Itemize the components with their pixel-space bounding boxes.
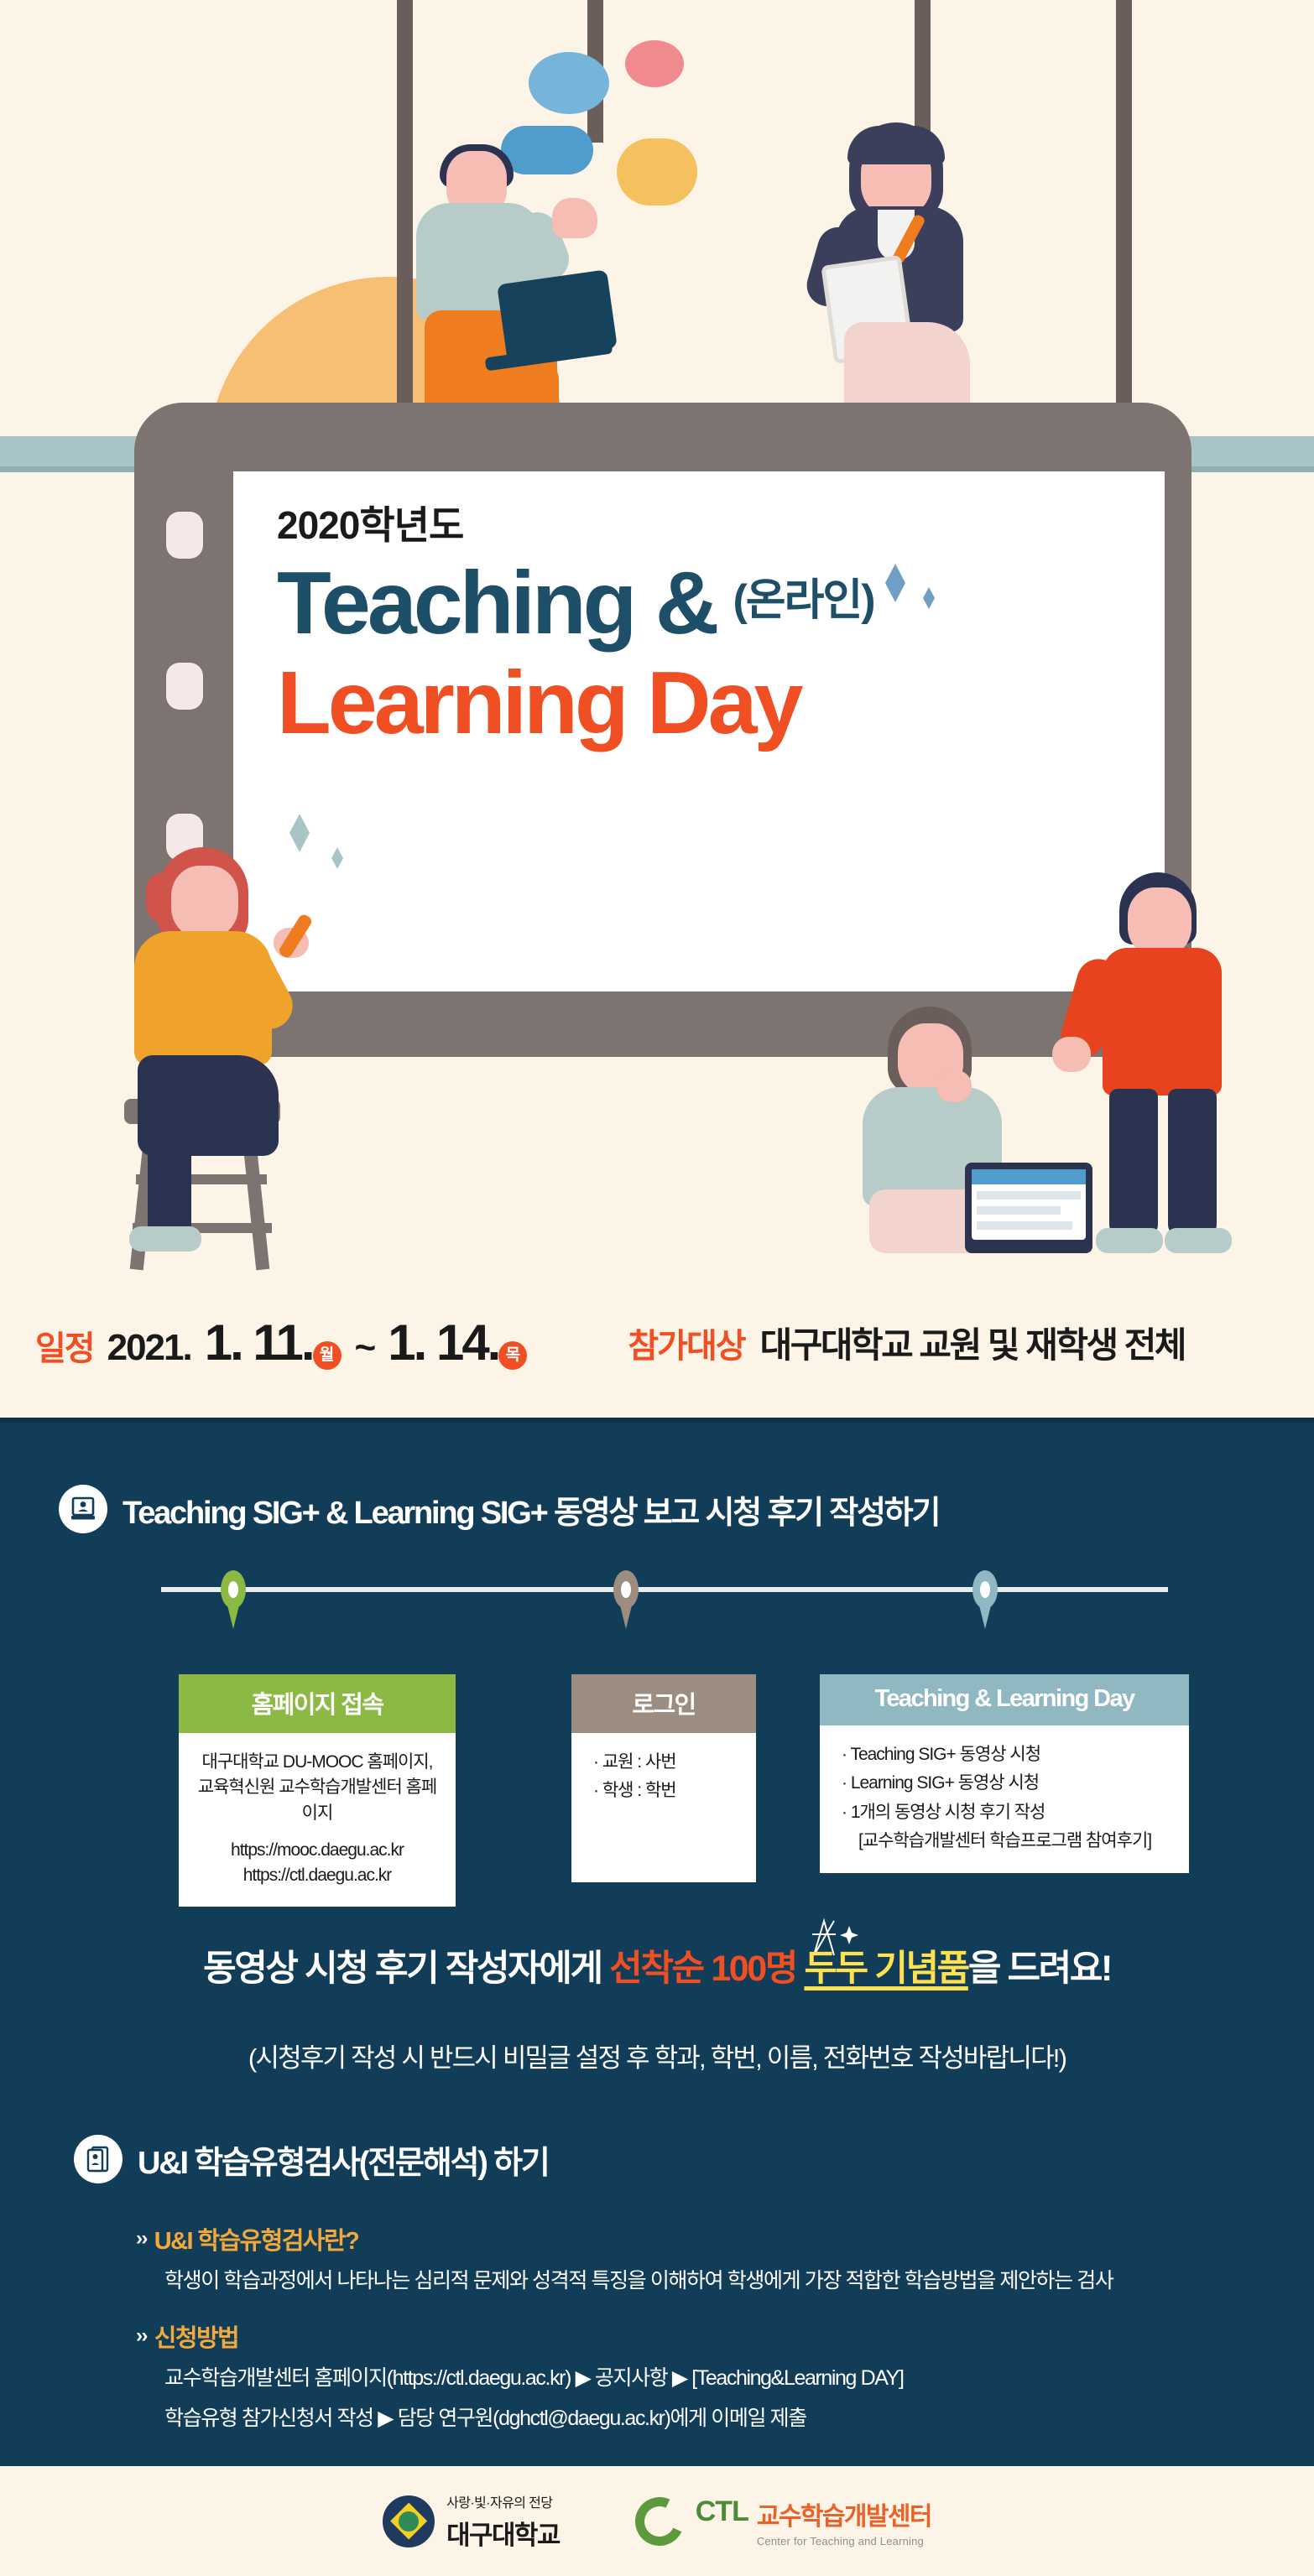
card1-url2[interactable]: https://ctl.daegu.ac.kr	[190, 1863, 444, 1888]
title-online-badge: (온라인)	[733, 576, 873, 625]
card2-bullet2: · 학생 : 학번	[593, 1778, 744, 1803]
promo-highlight-yellow: 두두 기념품	[804, 1949, 967, 1989]
card1-url1[interactable]: https://mooc.daegu.ac.kr	[190, 1838, 444, 1862]
card2-bullet1: · 교원 : 사번	[593, 1750, 744, 1775]
card3-bullet3: · 1개의 동영상 시청 후기 작성	[842, 1800, 1177, 1825]
promo-highlight-red: 선착순 100명	[609, 1949, 796, 1989]
schedule-separator: ~	[355, 1327, 375, 1369]
ctl-ring-icon	[628, 2490, 691, 2552]
ctl-english-name: Center for Teaching and Learning	[757, 2535, 931, 2547]
sparkle-icon	[923, 587, 935, 609]
laptop-icon	[497, 269, 618, 362]
schedule-start-day-badge: 월	[313, 1341, 342, 1370]
card3-bullet2: · Learning SIG+ 동영상 시청	[842, 1771, 1177, 1796]
timeline-dot-step1	[221, 1570, 246, 1609]
schedule-start-date: 1. 11.	[205, 1314, 313, 1371]
sparkle-icon	[885, 564, 905, 602]
section2-title: U&I 학습유형검사(전문해석) 하기	[138, 2136, 549, 2183]
card3-sub: [교수학습개발센터 학습프로그램 참여후기]	[842, 1829, 1177, 1854]
promo-prefix: 동영상 시청 후기 작성자에게	[203, 1949, 609, 1989]
schedule-info-bar: 일정 2021. 1. 11. 월 ~ 1. 14. 목 참가대상 대구대학교 …	[0, 1292, 1314, 1392]
card2-body: · 교원 : 사번 · 학생 : 학번	[571, 1733, 756, 1882]
timeline-dot-step2	[613, 1570, 639, 1609]
schedule-end-date: 1. 14.	[388, 1314, 498, 1371]
schedule-year: 2021.	[107, 1327, 191, 1369]
hero-illustration-section: 2020학년도 Teaching &(온라인) Learning Day 일정	[0, 0, 1314, 1460]
academic-year-label: 2020학년도	[277, 495, 874, 550]
arrow-marker-icon: ››	[136, 2227, 147, 2251]
card2-header: 로그인	[571, 1674, 756, 1733]
poster-title-line1: Teaching &(온라인)	[277, 554, 874, 653]
card1-header: 홈페이지 접속	[179, 1674, 456, 1733]
footer-logos: 사랑·빛·자유의 전당 대구대학교 CTL 교수학습개발센터 Center fo…	[0, 2466, 1314, 2576]
ui-item-definition-heading: ›› U&I 학습유형검사란?	[136, 2221, 1113, 2256]
section1-header: Teaching SIG+ & Learning SIG+ 동영상 보고 시청 …	[59, 1485, 939, 1533]
ctl-logo: CTL 교수학습개발센터 Center for Teaching and Lea…	[635, 2495, 931, 2547]
daegu-university-seal-icon	[383, 2495, 435, 2547]
schedule-end-day-badge: 목	[498, 1341, 527, 1370]
promo-subtext: (시청후기 작성 시 반드시 비밀글 설정 후 학과, 학번, 이름, 전화번호…	[0, 2037, 1314, 2074]
timeline-dot-step3	[972, 1570, 998, 1609]
section-top-strip	[0, 1418, 1314, 1423]
ui-item-application: ›› 신청방법 교수학습개발센터 홈페이지(https://ctl.daegu.…	[136, 2318, 904, 2434]
section2-header: U&I 학습유형검사(전문해석) 하기	[74, 2135, 549, 2183]
ctl-korean-name: 교수학습개발센터	[757, 2495, 931, 2532]
ui-application-step2: 학습유형 참가신청서 작성 ▶ 담당 연구원(dghctl@daegu.ac.k…	[164, 2403, 904, 2433]
step-card-login: 로그인 · 교원 : 사번 · 학생 : 학번	[571, 1674, 756, 1882]
ui-definition-title: U&I 학습유형검사란?	[154, 2221, 358, 2256]
illustration-person-standing	[1066, 872, 1275, 1267]
step-card-tl-day: Teaching & Learning Day · Teaching SIG+ …	[820, 1674, 1189, 1873]
card3-bullet1: · Teaching SIG+ 동영상 시청	[842, 1742, 1177, 1767]
schedule-group: 일정 2021. 1. 11. 월 ~ 1. 14. 목	[35, 1314, 527, 1371]
phone-button	[166, 663, 203, 710]
arrow-marker-icon: ››	[136, 2324, 147, 2348]
speech-bubble-decoration	[529, 52, 609, 114]
poster-title-line2: Learning Day	[277, 653, 874, 753]
promo-suffix: 을 드려요!	[968, 1949, 1111, 1989]
document-card-icon	[74, 2135, 123, 2183]
poster-title-block: 2020학년도 Teaching &(온라인) Learning Day	[277, 495, 874, 752]
ui-item-application-heading: ›› 신청방법	[136, 2318, 904, 2354]
step-card-homepage-access: 홈페이지 접속 대구대학교 DU-MOOC 홈페이지, 교육혁신원 교수학습개발…	[179, 1674, 456, 1907]
audience-group: 참가대상 대구대학교 교원 및 재학생 전체	[628, 1317, 1185, 1368]
title-teaching-text: Teaching &	[277, 554, 716, 653]
illustration-person-on-stool	[109, 847, 361, 1267]
ui-application-title: 신청방법	[154, 2318, 238, 2354]
presentation-board-icon	[59, 1485, 107, 1533]
speech-bubble-decoration	[617, 138, 697, 206]
timeline-connector	[161, 1587, 1168, 1592]
ui-definition-text: 학생이 학습과정에서 나타나는 심리적 문제와 성격적 특징을 이해하여 학생에…	[164, 2266, 1113, 2296]
speech-bubble-decoration	[625, 40, 684, 87]
section1-title: Teaching SIG+ & Learning SIG+ 동영상 보고 시청 …	[123, 1486, 939, 1533]
university-name: 대구대학교	[446, 2514, 560, 2552]
card3-header: Teaching & Learning Day	[820, 1674, 1189, 1725]
card1-body: 대구대학교 DU-MOOC 홈페이지, 교육혁신원 교수학습개발센터 홈페이지 …	[179, 1733, 456, 1907]
audience-text: 대구대학교 교원 및 재학생 전체	[760, 1317, 1186, 1368]
university-tagline: 사랑·빛·자유의 전당	[446, 2491, 560, 2511]
ui-item-definition: ›› U&I 학습유형검사란? 학생이 학습과정에서 나타나는 심리적 문제와 …	[136, 2221, 1113, 2296]
daegu-university-logo: 사랑·빛·자유의 전당 대구대학교	[383, 2491, 560, 2552]
card1-line2: 교육혁신원 교수학습개발센터 홈페이지	[190, 1775, 444, 1826]
schedule-label: 일정	[35, 1321, 94, 1370]
card3-body: · Teaching SIG+ 동영상 시청 · Learning SIG+ 동…	[820, 1725, 1189, 1873]
promo-headline: 동영상 시청 후기 작성자에게 선착순 100명 두두 기념품을 드려요!	[0, 1939, 1314, 1991]
ui-application-step1: 교수학습개발센터 홈페이지(https://ctl.daegu.ac.kr) ▶…	[164, 2363, 904, 2393]
card1-line1: 대구대학교 DU-MOOC 홈페이지,	[190, 1750, 444, 1775]
audience-label: 참가대상	[628, 1319, 744, 1367]
ctl-abbreviation: CTL	[696, 2495, 748, 2528]
phone-button	[166, 512, 203, 559]
